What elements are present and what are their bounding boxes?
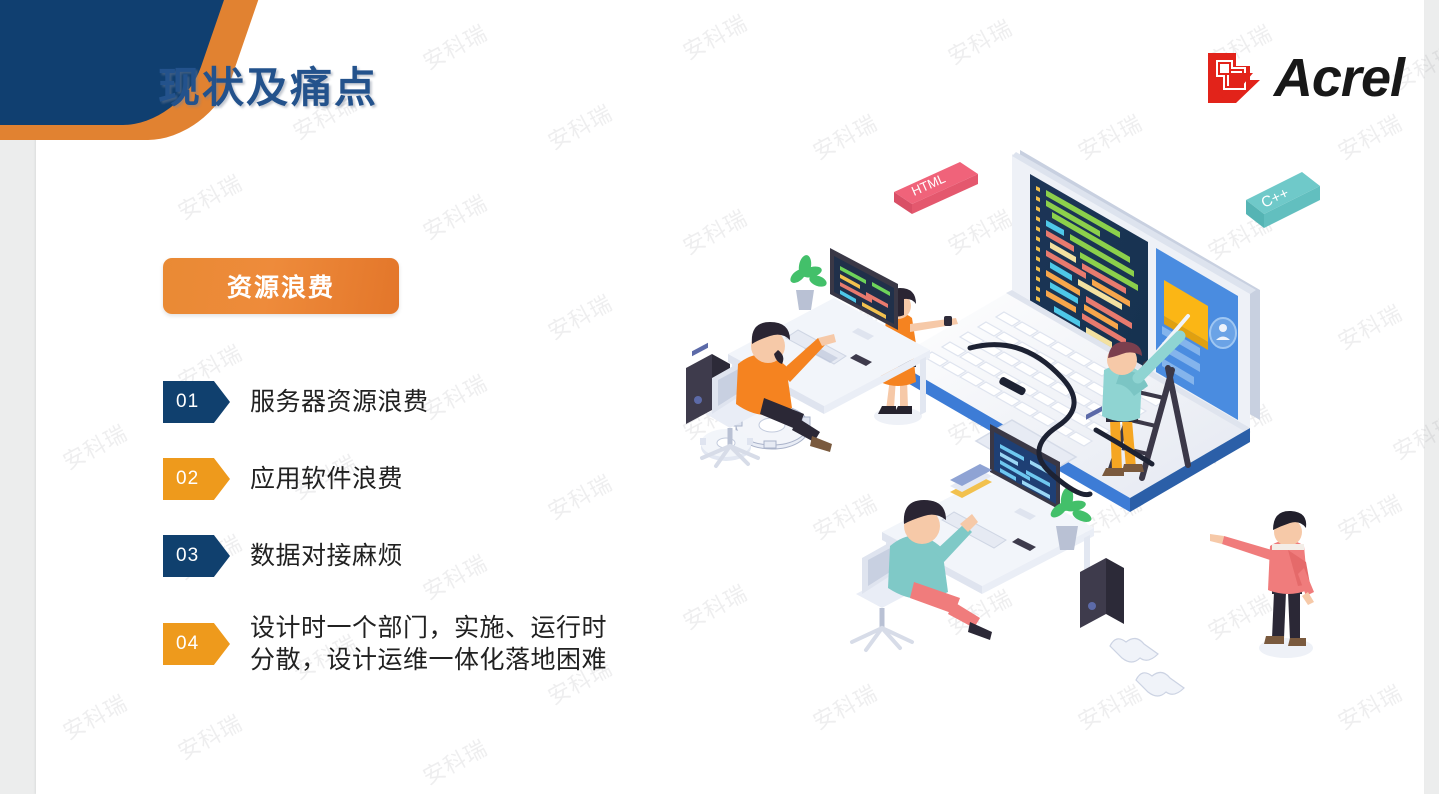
list-item: 03 数据对接麻烦 bbox=[163, 535, 683, 577]
list-item-number: 03 bbox=[176, 545, 199, 567]
pain-point-list: 01 服务器资源浪费 02 应用软件浪费 03 数据对接麻烦 04 设计时一个部… bbox=[163, 381, 683, 676]
acrel-cube-logo-icon bbox=[1206, 50, 1262, 106]
list-item-badge: 01 bbox=[163, 381, 230, 423]
list-item-label: 服务器资源浪费 bbox=[250, 386, 429, 418]
tag-html: HTML bbox=[894, 162, 978, 214]
laptop bbox=[892, 150, 1260, 512]
list-item-number: 01 bbox=[176, 391, 199, 413]
list-item: 02 应用软件浪费 bbox=[163, 458, 683, 500]
isometric-illustration: HTML C++ bbox=[660, 120, 1420, 760]
list-item-label: 设计时一个部门，实施、运行时 分散，设计运维一体化落地困难 bbox=[250, 612, 607, 676]
section-pill: 资源浪费 bbox=[163, 258, 399, 314]
page-title: 现状及痛点 bbox=[158, 54, 378, 115]
list-item: 01 服务器资源浪费 bbox=[163, 381, 683, 423]
list-item-badge: 04 bbox=[163, 623, 230, 665]
brand-name: Acrel bbox=[1274, 51, 1404, 105]
tag-cpp: C++ bbox=[1246, 172, 1320, 228]
illustration: HTML C++ bbox=[660, 120, 1420, 760]
slide-canvas: 现状及痛点 Acrel 资源浪费 01 服务器资源浪费 02 bbox=[0, 0, 1439, 794]
list-item-number: 04 bbox=[176, 633, 199, 655]
list-item-label: 数据对接麻烦 bbox=[250, 540, 403, 572]
list-item-number: 02 bbox=[176, 468, 199, 490]
pointing-man bbox=[1210, 511, 1314, 658]
puzzle-pieces-icon bbox=[1110, 638, 1184, 696]
list-item: 04 设计时一个部门，实施、运行时 分散，设计运维一体化落地困难 bbox=[163, 612, 683, 676]
list-item-badge: 02 bbox=[163, 458, 230, 500]
section-pill-label: 资源浪费 bbox=[227, 268, 335, 304]
brand-logo: Acrel bbox=[1206, 50, 1404, 106]
list-item-badge: 03 bbox=[163, 535, 230, 577]
list-item-label: 应用软件浪费 bbox=[250, 463, 403, 495]
page-right-margin bbox=[1424, 0, 1439, 794]
